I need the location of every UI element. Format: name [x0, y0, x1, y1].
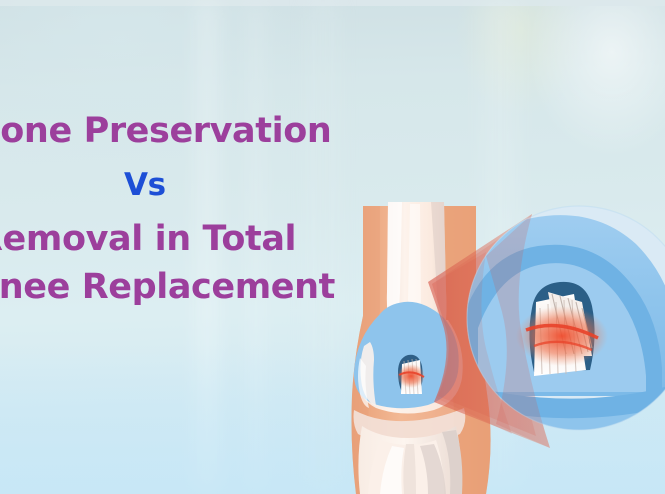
headline-line-3: Removal in Total [0, 222, 296, 257]
knee-anatomy-illustration [336, 196, 665, 494]
headline-line-1: Bone Preservation [0, 114, 331, 149]
headline-vs-label: Vs [124, 170, 166, 201]
poster-canvas: Bone Preservation Vs Removal in Total Kn… [0, 0, 665, 494]
headline-line-4: Knee Replacement [0, 270, 335, 305]
top-edge-band [0, 0, 665, 6]
